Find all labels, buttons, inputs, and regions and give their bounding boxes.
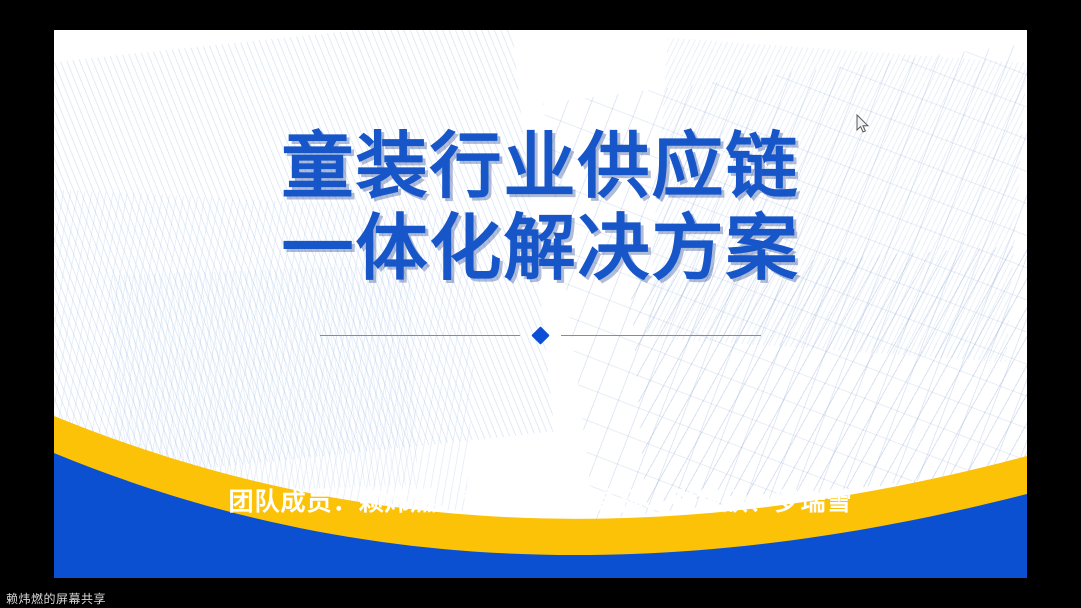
presentation-slide[interactable]: 童装行业供应链 一体化解决方案 团队成员：赖炜燃、黄歆惠、李诗扬、张舒欣、罗瑞雪 xyxy=(54,30,1027,578)
divider-rule-left xyxy=(320,335,520,336)
wave-band-decoration xyxy=(54,328,1027,578)
slide-title-line-1: 童装行业供应链 xyxy=(54,126,1027,208)
screen-share-viewport: 童装行业供应链 一体化解决方案 团队成员：赖炜燃、黄歆惠、李诗扬、张舒欣、罗瑞雪… xyxy=(0,0,1081,608)
slide-title-line-2: 一体化解决方案 xyxy=(54,208,1027,290)
slide-title: 童装行业供应链 一体化解决方案 xyxy=(54,126,1027,290)
screen-share-caption: 赖炜燃的屏幕共享 xyxy=(6,590,106,607)
divider-rule-right xyxy=(561,335,761,336)
title-divider xyxy=(54,329,1027,342)
diamond-icon xyxy=(531,326,549,344)
team-members-line: 团队成员：赖炜燃、黄歆惠、李诗扬、张舒欣、罗瑞雪 xyxy=(54,482,1027,518)
